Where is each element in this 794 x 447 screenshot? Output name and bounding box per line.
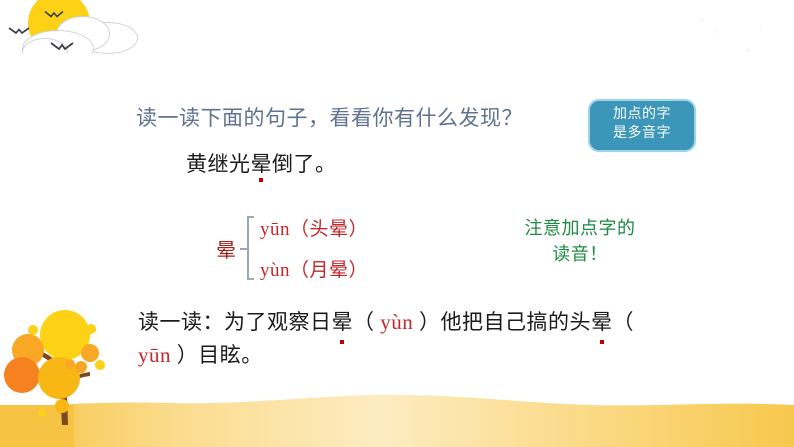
example-sentence: 黄继光晕倒了。 (186, 152, 337, 177)
pinyin-syllable: yùn (260, 260, 290, 281)
reading-pinyin-1: yùn (375, 310, 420, 334)
reading-paren-open: （ (353, 310, 375, 334)
polyphone-row: yūn（头晕） (260, 214, 368, 241)
reading-seg-3: 目眩。 (198, 343, 263, 367)
sentence-dotted-char: 晕 (251, 152, 273, 177)
green-reminder-note: 注意加点字的 读音！ (500, 215, 660, 267)
green-note-line-1: 注意加点字的 (500, 215, 660, 241)
reading-dotted-char: 晕 (591, 306, 613, 339)
pinyin-gloss: （月晕） (290, 260, 368, 281)
hint-badge: 加点的字 是多音字 (588, 99, 696, 152)
reading-paren-close: ） (177, 343, 199, 367)
question-line: 读一读下面的句子，看看你有什么发现？ (136, 106, 523, 131)
reading-seg-1: 为了观察日 (224, 310, 332, 334)
green-note-line-2: 读音！ (500, 241, 660, 267)
polyphone-chart: 晕 yūn（头晕） yùn（月晕） (216, 214, 368, 282)
reading-paren-close: ） (419, 310, 441, 334)
bracket-icon (243, 214, 254, 282)
pinyin-gloss: （头晕） (290, 219, 368, 240)
polyphone-row: yùn（月晕） (260, 255, 368, 282)
slide-canvas: 读一读下面的句子，看看你有什么发现？ 黄继光晕倒了。 加点的字 是多音字 晕 y… (0, 0, 794, 447)
reading-pinyin-2: yūn (138, 343, 177, 367)
reading-dotted-char: 晕 (332, 306, 354, 339)
content-layer: 读一读下面的句子，看看你有什么发现？ 黄继光晕倒了。 加点的字 是多音字 晕 y… (0, 0, 794, 447)
badge-line-1: 加点的字 (596, 106, 688, 125)
polyphone-rows: yūn（头晕） yùn（月晕） (260, 214, 368, 282)
reading-paren-open: （ (613, 310, 635, 334)
reading-seg-2: 他把自己搞的头 (441, 310, 592, 334)
reading-label: 读一读： (138, 310, 224, 334)
badge-line-2: 是多音字 (596, 125, 688, 144)
reading-practice-line: 读一读：为了观察日晕（ yùn ）他把自己搞的头晕（ yūn ）目眩。 (138, 306, 658, 371)
polyphone-head-char: 晕 (216, 234, 243, 263)
sentence-before: 黄继光 (186, 152, 251, 176)
pinyin-syllable: yūn (260, 219, 290, 240)
sentence-after: 倒了。 (272, 152, 337, 176)
